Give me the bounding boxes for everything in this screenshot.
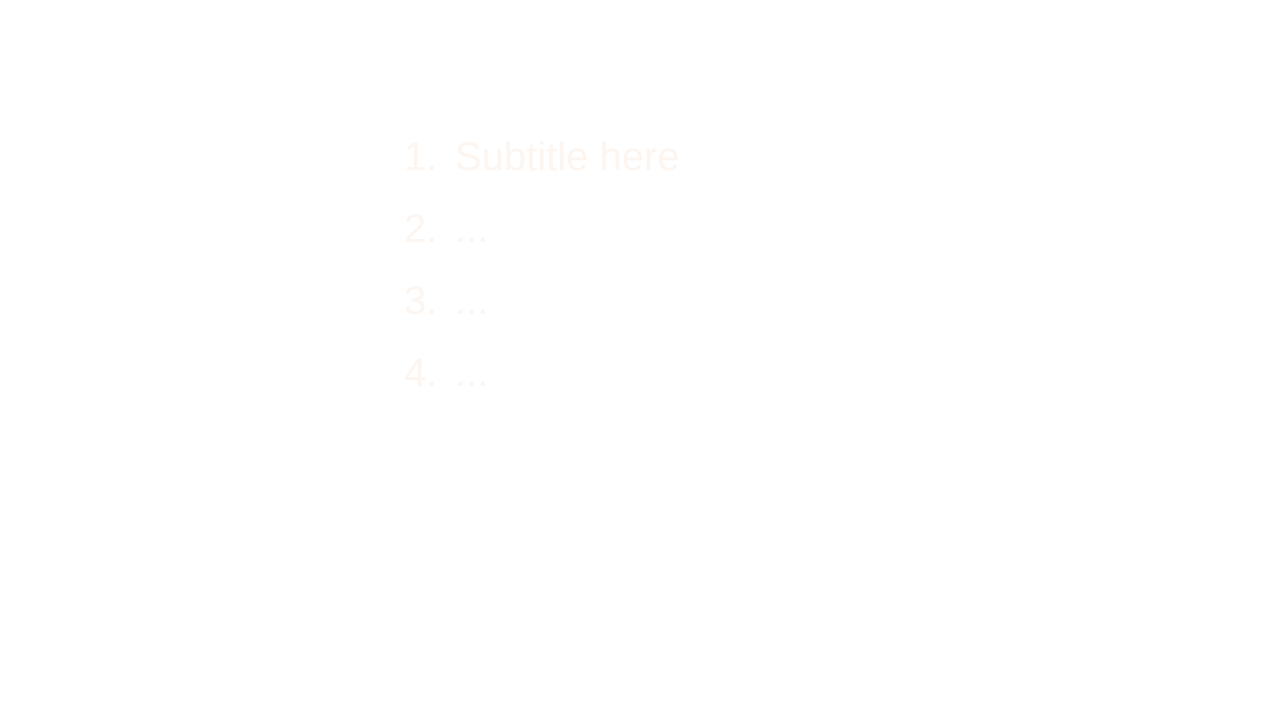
agenda-list: 1. Subtitle here 2. ... 3. ... 4. ... <box>404 129 1104 417</box>
list-item: 4. ... <box>404 345 1104 417</box>
list-item: 2. ... <box>404 201 1104 273</box>
list-item-number: 1. <box>404 129 455 185</box>
list-item: 1. Subtitle here <box>404 129 1104 201</box>
list-item: 3. ... <box>404 273 1104 345</box>
list-item-label: ... <box>455 201 488 257</box>
list-item-number: 3. <box>404 273 455 329</box>
agenda-slide: Agenda 1. Subtitle here 2. ... 3. ... 4.… <box>0 0 1280 720</box>
scroll-document-icon <box>272 503 374 605</box>
page-title-text: Agenda <box>0 118 358 182</box>
page-title: Agenda <box>0 118 358 182</box>
list-item-number: 4. <box>404 345 455 401</box>
list-item-number: 2. <box>404 201 455 257</box>
list-item-label: ... <box>455 273 488 329</box>
list-item-label: ... <box>455 345 488 401</box>
vertical-divider <box>382 118 383 605</box>
list-item-label: Subtitle here <box>455 129 680 185</box>
